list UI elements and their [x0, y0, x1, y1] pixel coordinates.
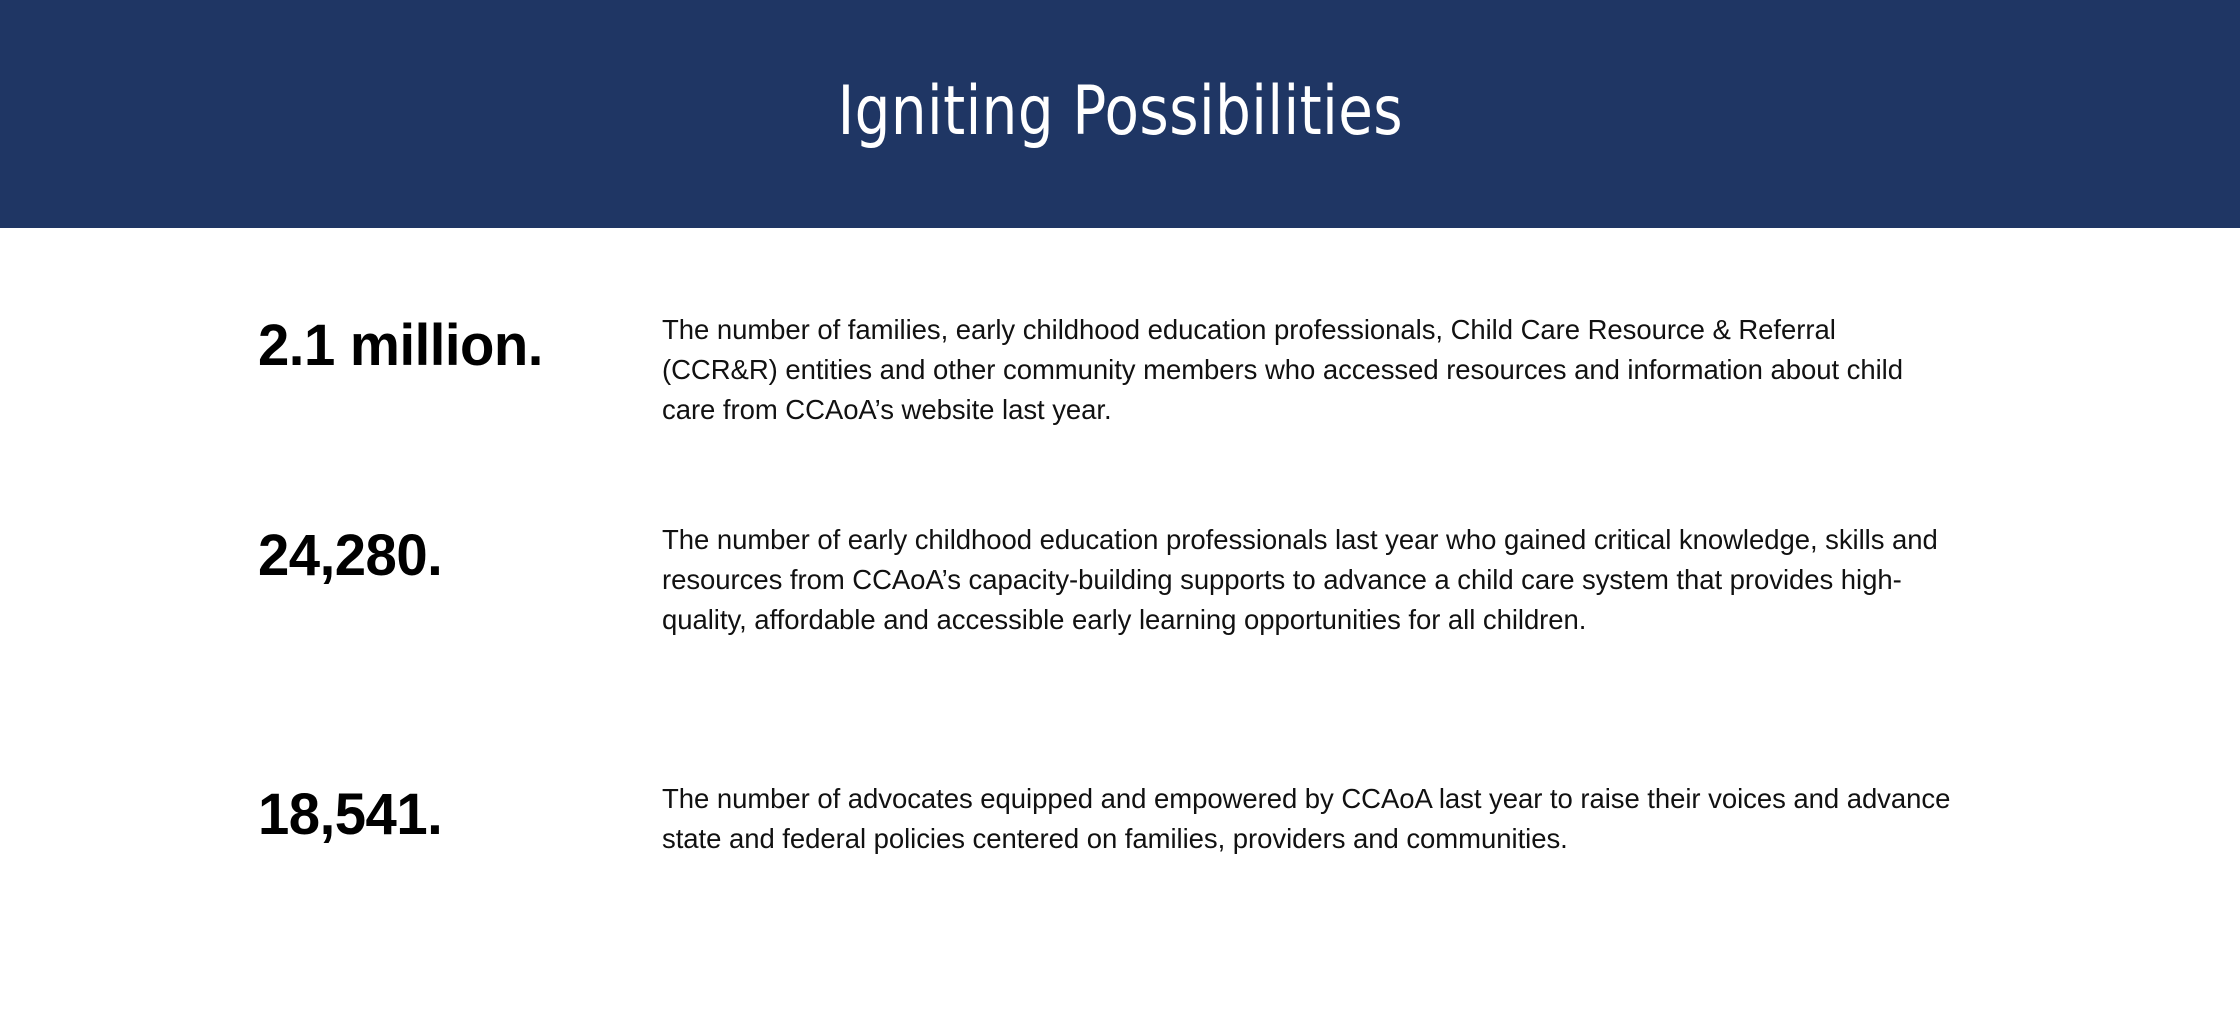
page-title: Igniting Possibilities — [837, 78, 1402, 146]
stat-number: 24,280. — [258, 520, 650, 590]
stats-area: 2.1 million. The number of families, ear… — [0, 228, 2240, 1027]
stat-number: 18,541. — [258, 779, 650, 849]
stat-row: 2.1 million. The number of families, ear… — [258, 310, 1958, 430]
stat-number: 2.1 million. — [258, 310, 650, 380]
stat-description: The number of families, early childhood … — [662, 310, 1958, 430]
stat-description: The number of early childhood education … — [662, 520, 1958, 640]
stat-row: 24,280. The number of early childhood ed… — [258, 520, 1958, 640]
slide: Igniting Possibilities 2.1 million. The … — [0, 0, 2240, 1027]
stat-row: 18,541. The number of advocates equipped… — [258, 779, 1958, 859]
header-band: Igniting Possibilities — [0, 0, 2240, 228]
stat-description: The number of advocates equipped and emp… — [662, 779, 1958, 859]
